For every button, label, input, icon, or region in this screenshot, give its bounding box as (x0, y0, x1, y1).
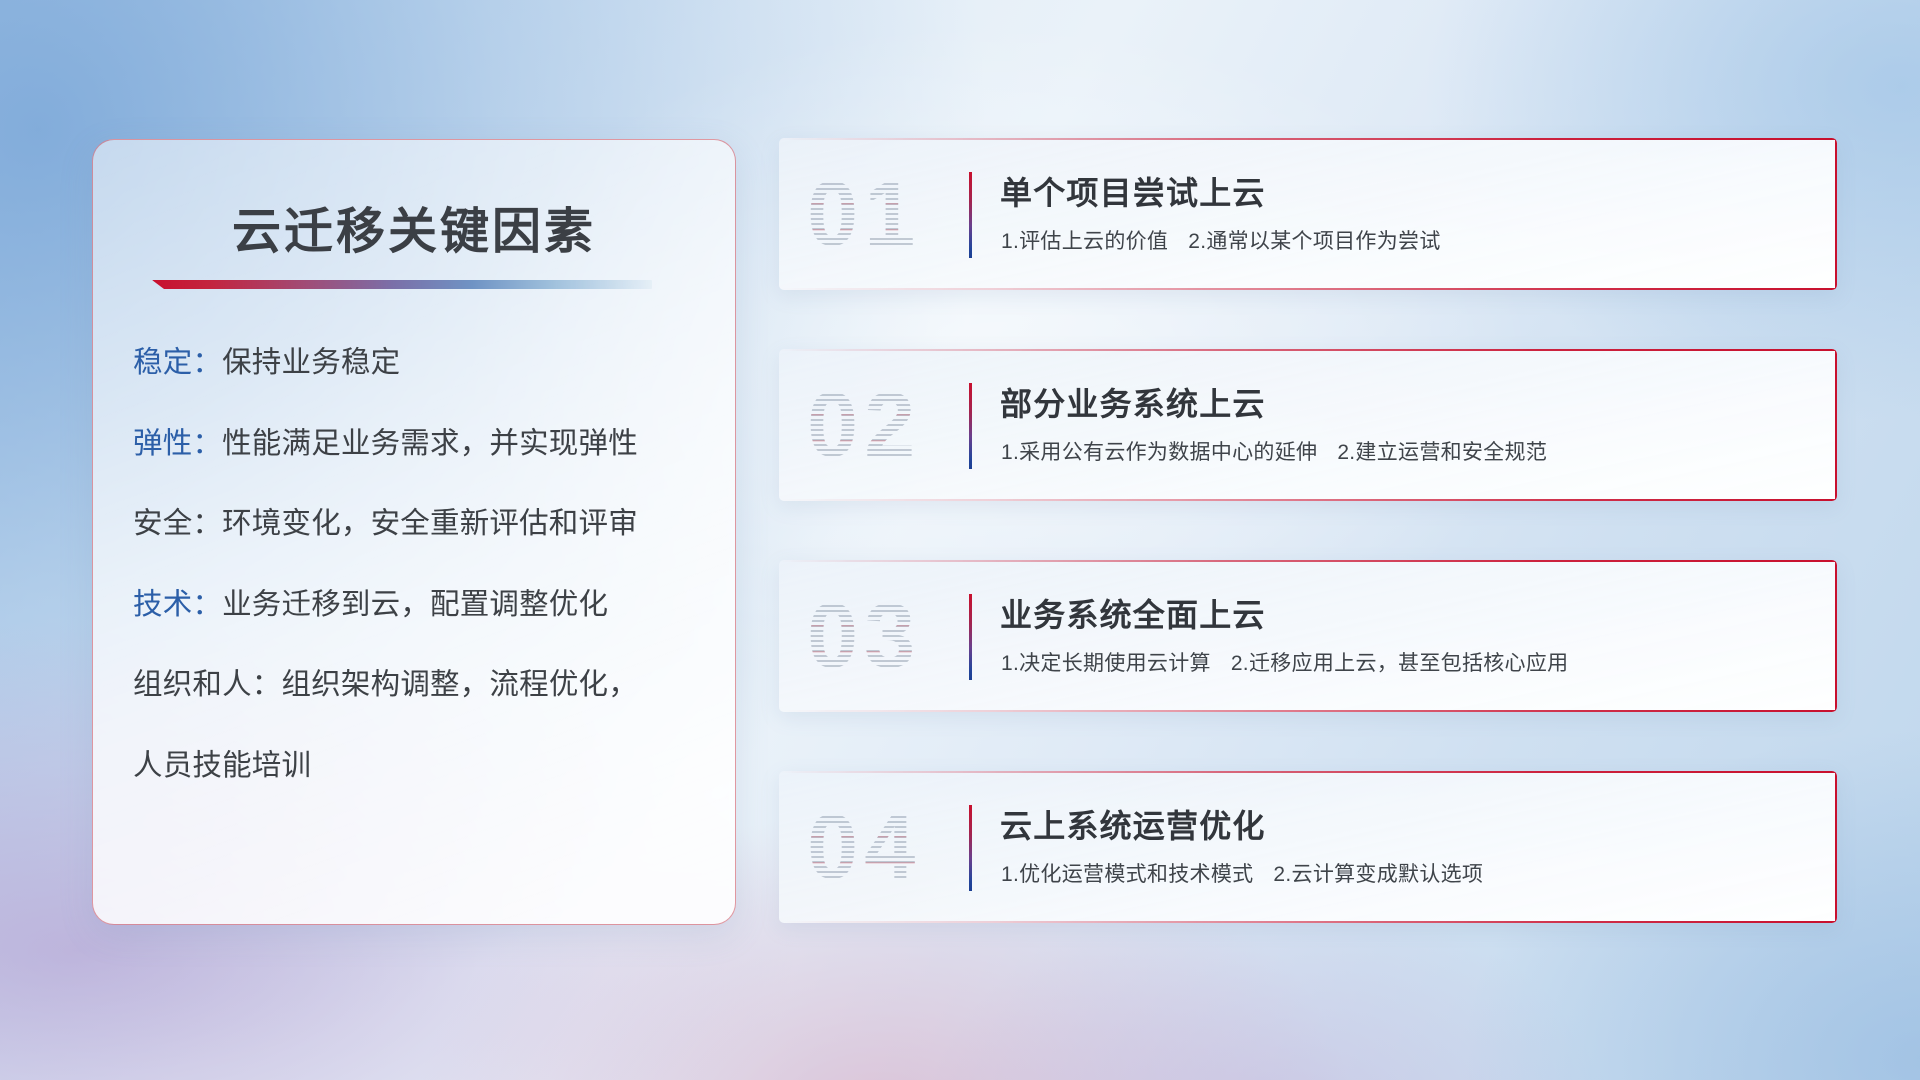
stage-title: 业务系统全面上云 (1000, 590, 1266, 636)
card-top-accent-line (779, 349, 1837, 351)
stage-title: 云上系统运营优化 (1000, 801, 1266, 847)
key-factors-panel: 云迁移关键因素 稳定：保持业务稳定弹性：性能满足业务需求，并实现弹性安全：环境变… (92, 139, 736, 925)
key-factor-label: 安全： (133, 507, 222, 540)
key-factor-text: 性能满足业务需求，并实现弹性 (222, 427, 638, 460)
page-title: 云迁移关键因素 (93, 192, 735, 263)
key-factor-row: 人员技能培训 (133, 751, 711, 781)
migration-stage-card[interactable]: 0101单个项目尝试上云1.评估上云的价值2.通常以某个项目作为尝试 (779, 138, 1837, 290)
key-factor-row: 组织和人：组织架构调整，流程优化， (133, 670, 711, 700)
key-factor-label: 技术： (133, 588, 222, 621)
card-right-accent-line (1835, 138, 1837, 290)
card-bottom-accent-line (779, 710, 1837, 712)
slide-canvas: 云迁移关键因素 稳定：保持业务稳定弹性：性能满足业务需求，并实现弹性安全：环境变… (0, 0, 1920, 1080)
stage-title: 单个项目尝试上云 (1000, 168, 1266, 214)
card-bottom-accent-line (779, 499, 1837, 501)
stage-divider-bar (969, 383, 972, 469)
card-top-accent-line (779, 560, 1837, 562)
card-right-accent-line (1835, 349, 1837, 501)
stage-number-watermark-tint: 03 (807, 590, 921, 682)
key-factor-row: 安全：环境变化，安全重新评估和评审 (133, 509, 711, 539)
stage-divider-bar (969, 594, 972, 680)
stage-point-1: 1.优化运营模式和技术模式 (1001, 863, 1253, 886)
key-factor-row: 稳定：保持业务稳定 (133, 348, 711, 378)
migration-stage-card[interactable]: 0303业务系统全面上云1.决定长期使用云计算2.迁移应用上云，甚至包括核心应用 (779, 560, 1837, 712)
migration-stage-card[interactable]: 0202部分业务系统上云1.采用公有云作为数据中心的延伸2.建立运营和安全规范 (779, 349, 1837, 501)
stage-number-watermark-tint: 02 (807, 379, 921, 471)
stage-point-1: 1.采用公有云作为数据中心的延伸 (1001, 441, 1317, 464)
card-top-accent-line (779, 138, 1837, 140)
stage-point-1: 1.评估上云的价值 (1001, 230, 1168, 253)
stage-number-watermark-tint: 04 (807, 801, 921, 893)
key-factor-row: 弹性：性能满足业务需求，并实现弹性 (133, 429, 711, 459)
stage-subtitle: 1.决定长期使用云计算2.迁移应用上云，甚至包括核心应用 (1001, 647, 1568, 677)
stage-divider-bar (969, 172, 972, 258)
stage-number-watermark-tint: 01 (807, 168, 921, 260)
key-factor-text: 组织架构调整，流程优化， (282, 668, 638, 701)
stage-point-2: 2.云计算变成默认选项 (1273, 863, 1483, 886)
key-factor-label: 稳定： (133, 346, 222, 379)
card-right-accent-line (1835, 560, 1837, 712)
card-bottom-accent-line (779, 921, 1837, 923)
card-top-accent-line (779, 771, 1837, 773)
migration-stage-card[interactable]: 0404云上系统运营优化1.优化运营模式和技术模式2.云计算变成默认选项 (779, 771, 1837, 923)
key-factor-label: 组织和人： (133, 668, 282, 701)
key-factors-list: 稳定：保持业务稳定弹性：性能满足业务需求，并实现弹性安全：环境变化，安全重新评估… (133, 348, 711, 780)
stage-point-2: 2.通常以某个项目作为尝试 (1188, 230, 1440, 253)
key-factor-row: 技术：业务迁移到云，配置调整优化 (133, 590, 711, 620)
stage-point-2: 2.迁移应用上云，甚至包括核心应用 (1231, 652, 1569, 675)
stage-point-1: 1.决定长期使用云计算 (1001, 652, 1211, 675)
key-factor-text: 保持业务稳定 (222, 346, 400, 379)
title-underline-accent (152, 280, 652, 289)
stage-subtitle: 1.优化运营模式和技术模式2.云计算变成默认选项 (1001, 858, 1483, 888)
migration-stage-cards: 0101单个项目尝试上云1.评估上云的价值2.通常以某个项目作为尝试0202部分… (779, 138, 1837, 923)
stage-title: 部分业务系统上云 (1000, 379, 1266, 425)
card-right-accent-line (1835, 771, 1837, 923)
stage-subtitle: 1.采用公有云作为数据中心的延伸2.建立运营和安全规范 (1001, 436, 1547, 466)
key-factor-text: 环境变化，安全重新评估和评审 (222, 507, 638, 540)
stage-divider-bar (969, 805, 972, 891)
stage-point-2: 2.建立运营和安全规范 (1337, 441, 1547, 464)
key-factor-text: 人员技能培训 (133, 749, 311, 782)
card-bottom-accent-line (779, 288, 1837, 290)
key-factor-label: 弹性： (133, 427, 222, 460)
key-factor-text: 业务迁移到云，配置调整优化 (222, 588, 608, 621)
stage-subtitle: 1.评估上云的价值2.通常以某个项目作为尝试 (1001, 225, 1441, 255)
